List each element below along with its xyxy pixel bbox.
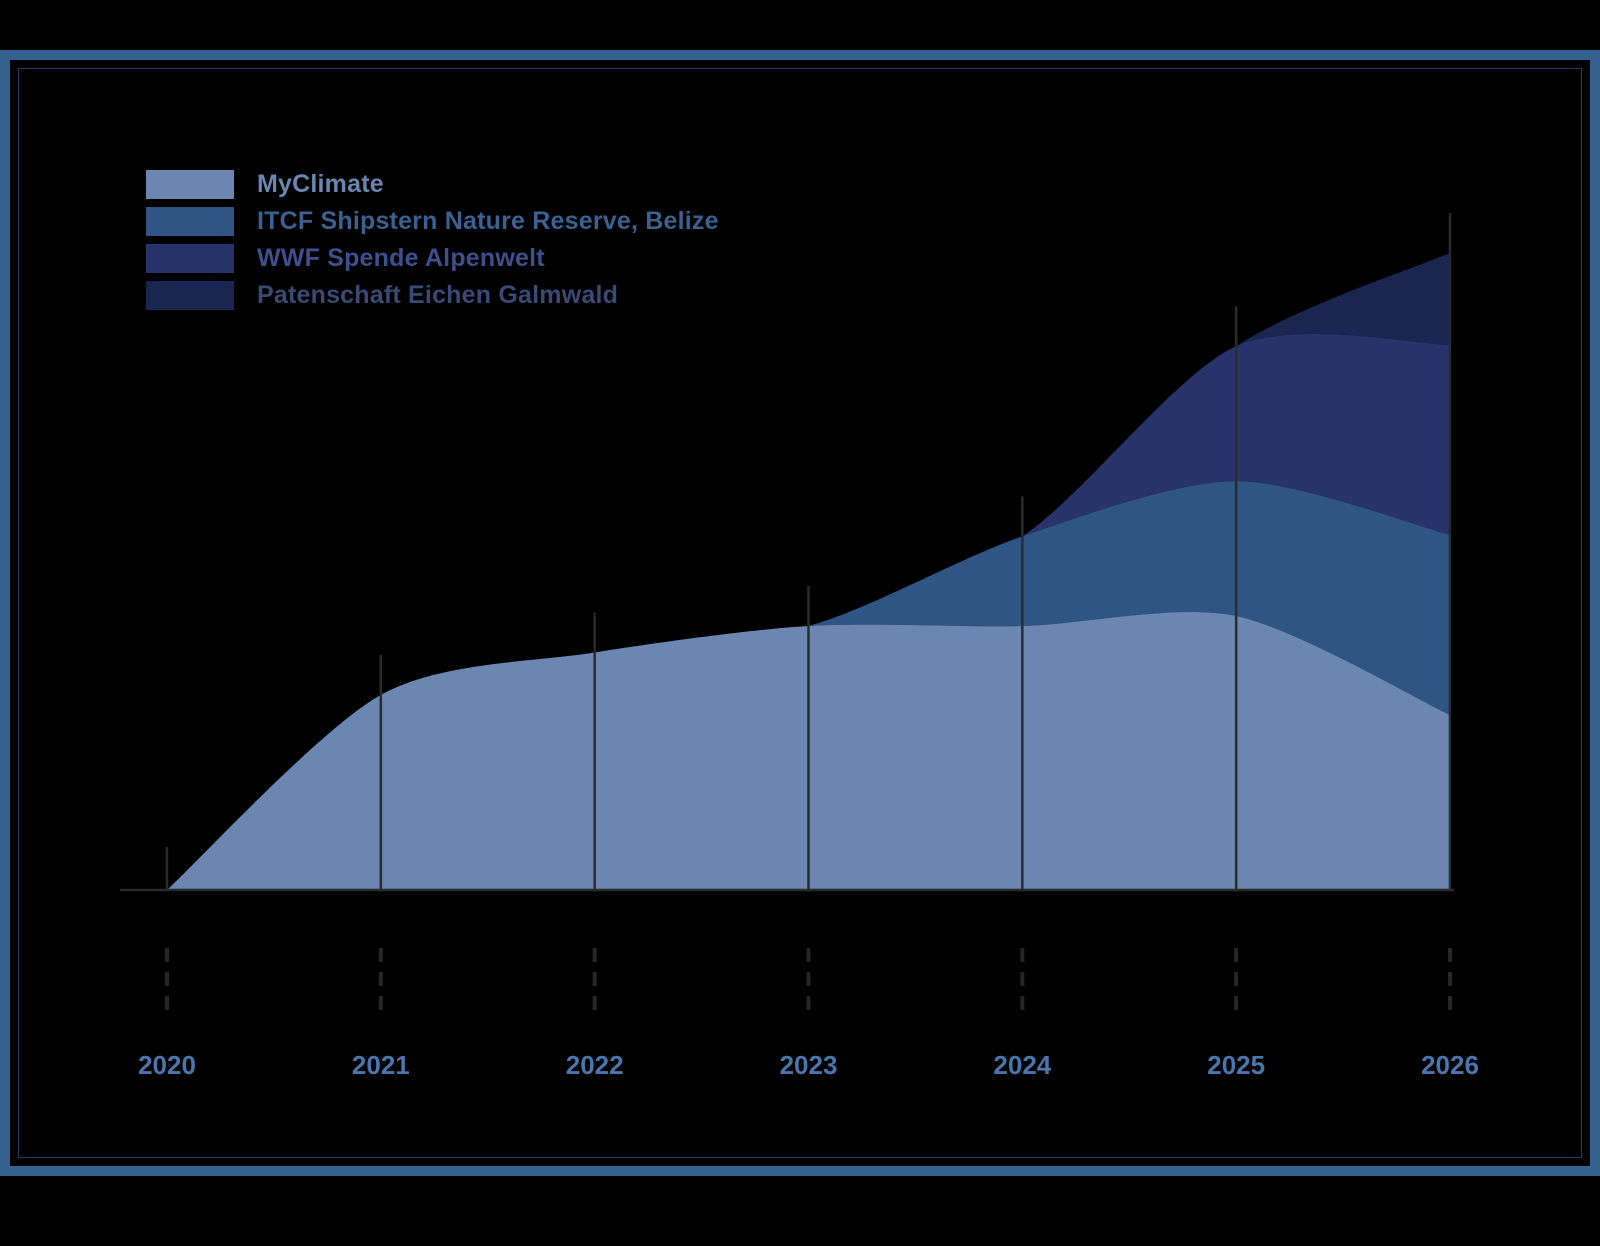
- x-axis-label: 2022: [566, 1050, 624, 1081]
- legend-swatch-icon: [146, 281, 234, 310]
- legend-item[interactable]: MyClimate: [146, 166, 906, 203]
- legend-swatch-icon: [146, 170, 234, 199]
- legend-swatch-icon: [146, 207, 234, 236]
- x-axis-label: 2025: [1207, 1050, 1265, 1081]
- x-axis-label: 2026: [1421, 1050, 1479, 1081]
- x-axis-label: 2024: [993, 1050, 1051, 1081]
- legend-item[interactable]: ITCF Shipstern Nature Reserve, Belize: [146, 203, 906, 240]
- x-axis-label: 2023: [780, 1050, 838, 1081]
- legend-item[interactable]: WWF Spende Alpenwelt: [146, 240, 906, 277]
- legend-swatch-icon: [146, 244, 234, 273]
- x-axis-label: 2020: [138, 1050, 196, 1081]
- legend-item[interactable]: Patenschaft Eichen Galmwald: [146, 277, 906, 314]
- legend-item-label: WWF Spende Alpenwelt: [257, 244, 545, 273]
- axis-tick-group: [167, 948, 1450, 1020]
- chart-legend: MyClimateITCF Shipstern Nature Reserve, …: [146, 166, 906, 314]
- legend-item-label: ITCF Shipstern Nature Reserve, Belize: [257, 207, 719, 236]
- legend-item-label: MyClimate: [257, 170, 384, 199]
- chart-page: MyClimateITCF Shipstern Nature Reserve, …: [0, 0, 1600, 1246]
- legend-item-label: Patenschaft Eichen Galmwald: [257, 281, 618, 310]
- x-axis-label: 2021: [352, 1050, 410, 1081]
